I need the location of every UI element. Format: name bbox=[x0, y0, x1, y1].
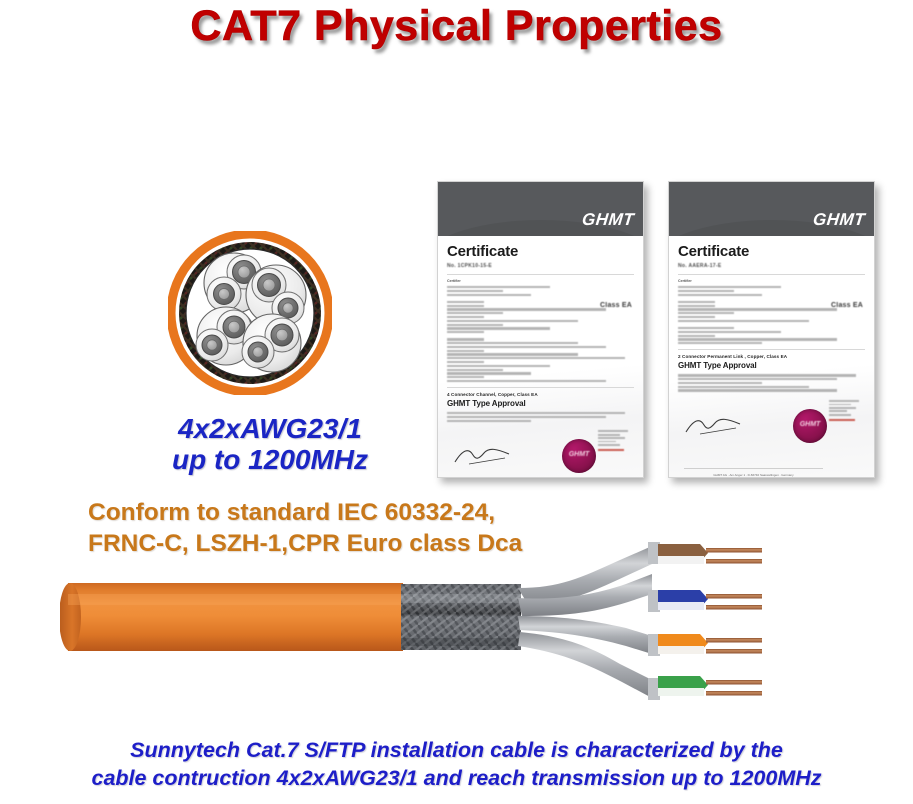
certificate-number: No. 1CPK10-15-E bbox=[447, 263, 634, 269]
certificate-card-2[interactable]: GHMT Certificate No. AAERA-17-E Class EA… bbox=[668, 181, 875, 478]
copper-conductor bbox=[706, 548, 762, 553]
foil-wrapped-bundle bbox=[518, 546, 652, 698]
divider bbox=[447, 274, 634, 275]
micro-text-line bbox=[678, 290, 734, 292]
micro-text-line bbox=[678, 378, 837, 380]
twisted-pair-brown bbox=[648, 542, 762, 564]
micro-text-line bbox=[678, 338, 837, 340]
micro-text-line bbox=[678, 316, 715, 318]
accent-line bbox=[829, 419, 855, 421]
twisted-pair-4 bbox=[242, 314, 301, 372]
certifier-label: Certifier bbox=[678, 279, 865, 285]
certificate-card-1[interactable]: GHMT Certificate No. 1CPK10-15-E Class E… bbox=[437, 181, 644, 478]
spec-line-1: 4x2xAWG23/1 bbox=[120, 414, 420, 445]
copper-conductor bbox=[706, 559, 762, 564]
micro-text-line bbox=[678, 320, 809, 322]
certificate-header-2: GHMT bbox=[669, 182, 874, 236]
micro-text-line bbox=[678, 308, 837, 310]
micro-text-line bbox=[447, 372, 531, 374]
white-blue-insulation bbox=[658, 602, 704, 610]
certifier-block: Certifier bbox=[678, 279, 865, 296]
certificate-number: No. AAERA-17-E bbox=[678, 263, 865, 269]
divider bbox=[447, 387, 634, 388]
micro-text-line bbox=[447, 380, 606, 382]
micro-text-line bbox=[447, 416, 606, 418]
ghmt-logo-icon: GHMT bbox=[812, 210, 866, 230]
approval-scope: 4 Connector Channel, Copper, Class EA bbox=[447, 392, 634, 397]
micro-text-line bbox=[447, 369, 503, 371]
results-block bbox=[447, 338, 634, 382]
micro-text-line bbox=[678, 335, 715, 337]
copper-conductor bbox=[706, 638, 762, 643]
ghmt-seal-icon: GHMT bbox=[562, 439, 596, 473]
micro-text-line bbox=[447, 338, 484, 340]
micro-text-line bbox=[447, 331, 484, 333]
approval-title: GHMT Type Approval bbox=[678, 361, 865, 370]
micro-text-line bbox=[447, 312, 503, 314]
seal-label: GHMT bbox=[562, 451, 596, 458]
braid-shield bbox=[401, 584, 521, 650]
certificate-body-2: Certificate No. AAERA-17-E Class EA Cert… bbox=[669, 236, 874, 478]
micro-text-line bbox=[598, 441, 616, 443]
certifier-block: Certifier bbox=[447, 279, 634, 296]
twisted-pair-green bbox=[648, 676, 762, 700]
micro-text-line bbox=[447, 327, 550, 329]
copper-conductor bbox=[706, 649, 762, 654]
micro-text-line bbox=[829, 404, 851, 406]
approval-scope: 2 Connector Permanent Link , Copper, Cla… bbox=[678, 354, 865, 359]
micro-text-line bbox=[447, 376, 484, 378]
micro-text-line bbox=[447, 350, 484, 352]
bottom-caption: Sunnytech Cat.7 S/FTP installation cable… bbox=[0, 737, 913, 793]
micro-text-line bbox=[447, 357, 625, 359]
divider bbox=[678, 349, 865, 350]
micro-text-line bbox=[447, 353, 578, 355]
white-orange-insulation bbox=[658, 646, 704, 654]
certificate-sidecolumn bbox=[598, 429, 630, 451]
white-green-insulation bbox=[658, 688, 704, 696]
micro-text-line bbox=[447, 412, 625, 414]
approval-title: GHMT Type Approval bbox=[447, 399, 634, 408]
micro-text-line bbox=[447, 286, 550, 288]
micro-text-line bbox=[447, 305, 484, 307]
micro-text-line bbox=[829, 414, 851, 416]
certificate-footer-2: GHMT GHMT AG . Am Anger 1 . D-66740 Saar… bbox=[678, 395, 865, 478]
micro-text-line bbox=[447, 316, 484, 318]
cable-spec-text: 4x2xAWG23/1 up to 1200MHz bbox=[120, 414, 420, 476]
micro-text-line bbox=[678, 386, 809, 388]
cable-cross-section-diagram bbox=[168, 231, 332, 395]
micro-text-line bbox=[678, 382, 762, 384]
micro-text-line bbox=[678, 331, 781, 333]
micro-text-line bbox=[447, 308, 606, 310]
certificate-sidecolumn bbox=[829, 399, 861, 421]
micro-text-line bbox=[678, 294, 762, 296]
accent-line bbox=[598, 449, 624, 451]
copper-conductor bbox=[706, 605, 762, 610]
certificate-footer-note: GHMT AG . Am Anger 1 . D-66740 Saarwelli… bbox=[684, 473, 823, 477]
micro-text-line bbox=[447, 361, 484, 363]
copper-conductor bbox=[706, 594, 762, 599]
micro-text-line bbox=[829, 407, 856, 409]
micro-text-line bbox=[447, 365, 550, 367]
cross-section-svg bbox=[168, 231, 332, 395]
micro-text-line bbox=[678, 327, 734, 329]
signature-icon bbox=[684, 415, 746, 437]
micro-text-line bbox=[447, 420, 531, 422]
divider bbox=[678, 274, 865, 275]
micro-text-line bbox=[678, 305, 715, 307]
micro-text-line bbox=[678, 312, 734, 314]
micro-text-line bbox=[598, 437, 625, 439]
divider bbox=[684, 468, 823, 469]
micro-text-line bbox=[829, 400, 859, 402]
white-brown-insulation bbox=[658, 556, 704, 564]
micro-text-line bbox=[447, 301, 484, 303]
micro-text-line bbox=[598, 430, 628, 432]
certificate-heading: Certificate bbox=[447, 243, 634, 260]
certificate-footer-1: GHMT GHMT AG . Am Anger 1 . D-66740 Saar… bbox=[447, 425, 634, 478]
micro-text-line bbox=[678, 342, 762, 344]
micro-text-line bbox=[678, 286, 781, 288]
micro-text-line bbox=[447, 324, 503, 326]
micro-text-line bbox=[447, 342, 578, 344]
certificate-header-1: GHMT bbox=[438, 182, 643, 236]
spec-line-2: up to 1200MHz bbox=[120, 445, 420, 476]
seal-label: GHMT bbox=[793, 421, 827, 428]
micro-text-line bbox=[447, 320, 578, 322]
micro-text-line bbox=[678, 374, 856, 376]
cable-cutaway-photo bbox=[60, 520, 913, 720]
micro-text-line bbox=[829, 410, 847, 412]
page-title: CAT7 Physical Properties bbox=[0, 2, 913, 51]
caption-line-1: Sunnytech Cat.7 S/FTP installation cable… bbox=[0, 737, 913, 765]
micro-text-line bbox=[598, 434, 620, 436]
certificate-heading: Certificate bbox=[678, 243, 865, 260]
twisted-pair-orange bbox=[648, 634, 762, 656]
copper-conductor bbox=[706, 691, 762, 696]
certificate-body-1: Certificate No. 1CPK10-15-E Class EA Cer… bbox=[438, 236, 643, 478]
cable-photo-svg bbox=[60, 520, 913, 720]
signature-icon bbox=[453, 445, 515, 467]
cable-jacket bbox=[60, 583, 403, 651]
certifier-label: Certifier bbox=[447, 279, 634, 285]
micro-text-line bbox=[447, 290, 503, 292]
ghmt-logo-icon: GHMT bbox=[581, 210, 635, 230]
micro-text-line bbox=[598, 444, 620, 446]
ghmt-seal-icon: GHMT bbox=[793, 409, 827, 443]
exclusions-block bbox=[678, 327, 865, 344]
micro-text-line bbox=[447, 346, 606, 348]
micro-text-line bbox=[447, 294, 531, 296]
copper-conductor bbox=[706, 680, 762, 685]
micro-text-line bbox=[678, 301, 715, 303]
caption-line-2: cable contruction 4x2xAWG23/1 and reach … bbox=[0, 765, 913, 793]
micro-text-line bbox=[678, 389, 837, 391]
twisted-pair-blue bbox=[648, 590, 762, 612]
